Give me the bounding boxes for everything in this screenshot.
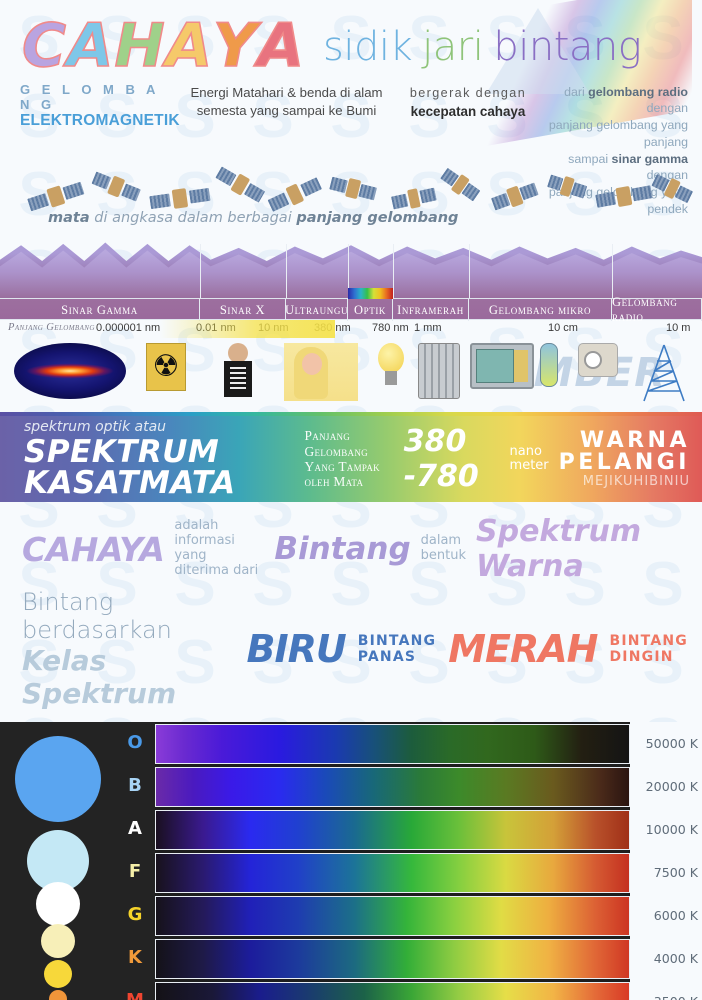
temperature-label-G: 6000 K	[632, 908, 698, 923]
em-band-sinar-gamma[interactable]: Sinar Gamma	[0, 299, 200, 321]
band-divider-line	[612, 244, 613, 298]
radio-text-part-2-0: dengan	[647, 101, 688, 115]
header: CAHAYA sidikjaribintang G E L O M B A N …	[0, 0, 702, 170]
wavelength-scale-row: Panjang Gelombang 0.000001 nm0.01 nm10 n…	[0, 320, 702, 338]
tag-bintang: Bintang	[274, 531, 410, 567]
spectral-class-letter-M[interactable]: M	[120, 990, 150, 1000]
tagline-row-2: Bintang berdasarkan Kelas Spektrum BIRU …	[22, 588, 688, 710]
dalam-line2: bentuk	[421, 549, 466, 564]
sunbathing-woman-uv-icon	[284, 343, 358, 401]
tag-bintang-dingin: BINTANG DINGIN	[609, 633, 688, 665]
page-title: CAHAYA	[22, 18, 305, 76]
panjang-gelombang-word: panjang gelombang	[296, 210, 458, 226]
radio-text-part-4-0: sinar gamma	[612, 152, 688, 166]
adalah-line1: adalah informasi	[174, 519, 264, 549]
nanometer-unit: nano meter	[510, 445, 549, 474]
wavelength-range-value: 380 -780	[404, 424, 500, 494]
spektrum-kasatmata-block: spektrum optik atau SPEKTRUM KASATMATA	[24, 420, 295, 499]
temperature-label-B: 20000 K	[632, 779, 698, 794]
star-disc-G	[44, 960, 72, 988]
spektrum-optik-label: spektrum optik atau	[24, 420, 295, 434]
tag-merah: MERAH	[448, 627, 597, 671]
mata-word: mata	[48, 210, 90, 226]
temperature-label-O: 50000 K	[632, 736, 698, 751]
radio-transmission-tower-icon	[638, 343, 690, 403]
electric-heater-infrared-icon	[418, 343, 460, 399]
spectrum-strip-G[interactable]	[155, 896, 630, 936]
star-disc-A	[36, 882, 80, 926]
band-divider-line	[286, 244, 287, 298]
space-telescope-icon	[594, 179, 654, 214]
wavelength-value: 10 m	[666, 322, 690, 334]
galaxy-gamma-sky-icon	[14, 343, 126, 399]
tag-adalah-informasi: adalah informasi yang diterima dari	[174, 519, 264, 578]
tag-biru: BIRU	[246, 627, 345, 671]
title-letter-5: A	[258, 18, 305, 76]
tag-kelas-spektrum: Kelas Spektrum	[22, 644, 234, 710]
visible-light-beam	[160, 320, 335, 338]
tag-bintang-panas: BINTANG PANAS	[358, 633, 437, 665]
star-disc-F	[41, 924, 75, 958]
wavelength-value: 10 cm	[548, 322, 578, 334]
kecepatan-cahaya-label: kecepatan cahaya	[403, 102, 533, 121]
mata-mid-text: di angkasa dalam berbagai	[90, 210, 297, 226]
wavelength-value: 0.000001 nm	[96, 322, 160, 334]
temperature-label-K: 4000 K	[632, 951, 698, 966]
microwave-oven-pizza-icon	[470, 343, 534, 389]
tagline-row-1: CAHAYA adalah informasi yang diterima da…	[22, 514, 688, 584]
space-telescope-icon	[489, 177, 541, 217]
spectrum-strip-K[interactable]	[155, 939, 630, 979]
title-letter-2: H	[114, 18, 165, 76]
band-divider-line	[469, 244, 470, 298]
light-bulb-icon	[376, 343, 406, 389]
spektrum-kasatmata-title: SPEKTRUM KASATMATA	[24, 437, 295, 499]
mobile-phone-icon	[540, 343, 558, 387]
em-band-sinar-x[interactable]: Sinar X	[200, 299, 286, 321]
radio-text-part-1-0: gelombang radio	[588, 85, 688, 99]
mejikuhibiniu-mnemonic: MEJIKUHIBINIU	[559, 475, 690, 488]
bergerak-dengan-label: bergerak dengan	[403, 84, 533, 102]
dalam-line1: dalam	[421, 534, 466, 549]
band-divider-line	[200, 244, 201, 298]
panas-line2: PANAS	[358, 649, 437, 665]
em-sources-row: SUMBER ☢	[0, 338, 702, 412]
space-telescope-icon	[328, 171, 379, 207]
star-disc-K	[49, 990, 67, 1000]
title-letter-3: A	[166, 18, 213, 76]
radio-text-part-3-1: panjang gelombang yang panjang	[549, 118, 688, 149]
em-band-gelombang-radio[interactable]: Gelombang radio	[612, 299, 702, 321]
temperature-column: 50000 K20000 K10000 K7500 K6000 K4000 K3…	[630, 722, 702, 1000]
em-band-inframerah[interactable]: Inframerah	[393, 299, 469, 321]
spectrum-strip-B[interactable]	[155, 767, 630, 807]
title-letter-1: A	[67, 18, 114, 76]
radiation-warning-sign-icon: ☢	[146, 343, 186, 391]
spectral-class-letter-B[interactable]: B	[120, 775, 150, 796]
panjang-gelombang-line2: Yang Tampak oleh Mata	[305, 459, 394, 490]
spectral-class-chart: OBAFGKM 50000 K20000 K10000 K7500 K6000 …	[0, 722, 702, 1000]
spectrum-strips-column	[155, 722, 630, 1000]
tag-spektrum-warna: Spektrum Warna	[476, 514, 688, 584]
subtitle-word-0: sidik	[323, 24, 412, 70]
spectral-class-letter-G[interactable]: G	[120, 904, 150, 925]
warna-label: WARNA	[559, 430, 690, 452]
panjang-gelombang-line1: Panjang Gelombang	[305, 428, 394, 459]
spectrum-strip-O[interactable]	[155, 724, 630, 764]
tag-kelas-spektrum-block: Bintang berdasarkan Kelas Spektrum	[22, 588, 234, 710]
optik-mini-spectrum	[348, 288, 393, 299]
spectral-class-letter-F[interactable]: F	[120, 861, 150, 882]
spectral-class-letter-O[interactable]: O	[120, 732, 150, 753]
spectral-class-letter-K[interactable]: K	[120, 947, 150, 968]
space-telescope-icon	[545, 169, 589, 205]
spectrum-strip-A[interactable]	[155, 810, 630, 850]
spectral-class-letter-A[interactable]: A	[120, 818, 150, 839]
space-telescope-icon	[648, 169, 695, 210]
visible-spectrum-banner: spektrum optik atau SPEKTRUM KASATMATA P…	[0, 416, 702, 502]
panjang-gelombang-mata-block: Panjang Gelombang Yang Tampak oleh Mata	[305, 428, 394, 490]
radio-text-part-0-0: dari	[564, 85, 588, 99]
title-letter-0: C	[22, 18, 67, 76]
gelombang-label: G E L O M B A N G	[20, 82, 170, 112]
radio-text-part-3-2: sampai	[568, 152, 611, 166]
em-band-optik[interactable]: Optik	[348, 299, 393, 321]
temperature-label-A: 10000 K	[632, 822, 698, 837]
temperature-label-F: 7500 K	[632, 865, 698, 880]
panas-line1: BINTANG	[358, 633, 437, 649]
adalah-line2: yang diterima dari	[174, 549, 264, 579]
wavelength-value: 1 mm	[414, 322, 442, 334]
unit-line1: nano	[510, 445, 549, 459]
tagline-block: CAHAYA adalah informasi yang diterima da…	[0, 502, 702, 720]
panjang-gelombang-label: Panjang Gelombang	[8, 322, 95, 333]
space-telescope-icon	[436, 163, 484, 207]
warna-pelangi-block: WARNA PELANGI MEJIKUHIBINIU	[559, 430, 694, 488]
spectrum-strip-F[interactable]	[155, 853, 630, 893]
band-divider-line	[393, 244, 394, 298]
elektromagnetik-label: ELEKTROMAGNETIK	[20, 112, 170, 130]
page-subtitle: sidikjaribintang	[323, 24, 641, 70]
mata-di-angkasa-caption: mata di angkasa dalam berbagai panjang g…	[48, 210, 458, 226]
star-disc-O	[15, 736, 101, 822]
subtitle-word-1: jari	[422, 24, 483, 70]
tag-dalam-bentuk: dalam bentuk	[421, 534, 466, 564]
em-band-gelombang-mikro[interactable]: Gelombang mikro	[469, 299, 612, 321]
xray-scan-person-icon	[216, 343, 260, 399]
space-telescope-icon	[89, 166, 143, 208]
tag-cahaya: CAHAYA	[22, 530, 164, 569]
title-letter-4: Y	[213, 18, 257, 76]
star-size-column: OBAFGKM	[0, 722, 155, 1000]
infographic-page: SSSSSSSSSSSSSSSSSSSSSSSSSSSSSSSSSSSSSSSS…	[0, 0, 702, 1000]
radio-receiver-icon	[578, 343, 618, 377]
subtitle-word-2: bintang	[493, 24, 641, 70]
tag-bintang-berdasarkan: Bintang berdasarkan	[22, 588, 234, 644]
space-telescopes-strip: mata di angkasa dalam berbagai panjang g…	[0, 170, 702, 232]
wavelength-value: 780 nm	[372, 322, 409, 334]
pelangi-label: PELANGI	[559, 452, 690, 474]
em-band-ultraungu[interactable]: Ultraungu	[286, 299, 348, 321]
dingin-line2: DINGIN	[609, 649, 688, 665]
em-band-label-row: Sinar GammaSinar XUltraunguOptikInframer…	[0, 298, 702, 320]
spectrum-strip-M[interactable]	[155, 982, 630, 1000]
title-row: CAHAYA sidikjaribintang	[0, 0, 702, 76]
dingin-line1: BINTANG	[609, 633, 688, 649]
unit-line2: meter	[510, 459, 549, 473]
temperature-label-M: 3500 K	[632, 994, 698, 1000]
